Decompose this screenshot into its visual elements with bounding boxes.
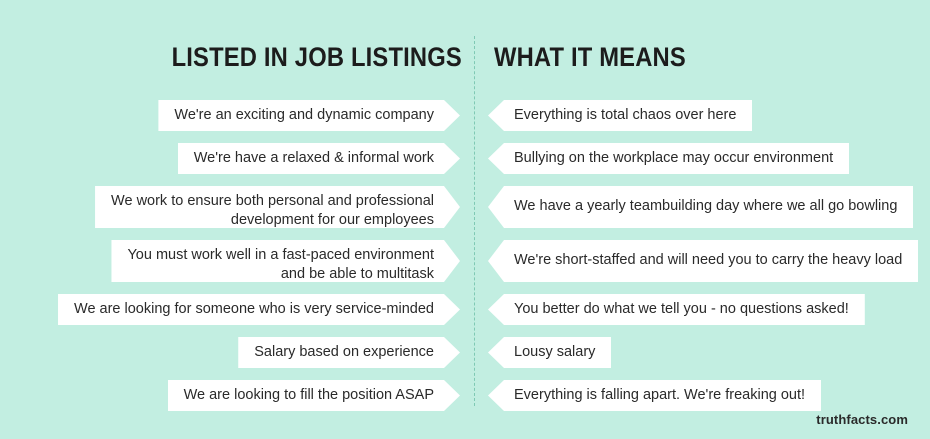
meaning-bubble: We have a yearly teambuilding day where … xyxy=(488,186,913,228)
meaning-bubble: Lousy salary xyxy=(488,337,611,368)
comparison-row: Salary based on experienceLousy salary xyxy=(0,337,930,368)
comparison-row: You must work well in a fast-paced envir… xyxy=(0,240,930,282)
job-listing-bubble: We are looking to fill the position ASAP xyxy=(168,380,460,411)
job-listing-bubble: You must work well in a fast-paced envir… xyxy=(111,240,460,282)
infographic-canvas: LISTED IN JOB LISTINGS WHAT IT MEANS We'… xyxy=(0,0,930,439)
meaning-bubble: We're short-staffed and will need you to… xyxy=(488,240,918,282)
comparison-row: We are looking for someone who is very s… xyxy=(0,294,930,325)
job-listing-bubble: We work to ensure both personal and prof… xyxy=(95,186,460,228)
meaning-bubble: Everything is falling apart. We're freak… xyxy=(488,380,821,411)
job-listing-bubble: We're an exciting and dynamic company xyxy=(158,100,460,131)
column-headers: LISTED IN JOB LISTINGS WHAT IT MEANS xyxy=(0,42,930,78)
meaning-bubble: You better do what we tell you - no ques… xyxy=(488,294,865,325)
comparison-row: We work to ensure both personal and prof… xyxy=(0,186,930,228)
comparison-row: We're an exciting and dynamic companyEve… xyxy=(0,100,930,131)
comparison-row: We are looking to fill the position ASAP… xyxy=(0,380,930,411)
watermark-truthfacts: truthfacts.com xyxy=(816,412,908,427)
job-listing-bubble: We are looking for someone who is very s… xyxy=(58,294,460,325)
meaning-bubble: Bullying on the workplace may occur envi… xyxy=(488,143,849,174)
job-listing-bubble: We're have a relaxed & informal work xyxy=(178,143,460,174)
meaning-bubble: Everything is total chaos over here xyxy=(488,100,752,131)
comparison-rows: We're an exciting and dynamic companyEve… xyxy=(0,100,930,423)
column-header-what-it-means: WHAT IT MEANS xyxy=(494,42,686,72)
comparison-row: We're have a relaxed & informal workBull… xyxy=(0,143,930,174)
job-listing-bubble: Salary based on experience xyxy=(238,337,460,368)
column-header-listed-in-job-listings: LISTED IN JOB LISTINGS xyxy=(172,42,462,72)
